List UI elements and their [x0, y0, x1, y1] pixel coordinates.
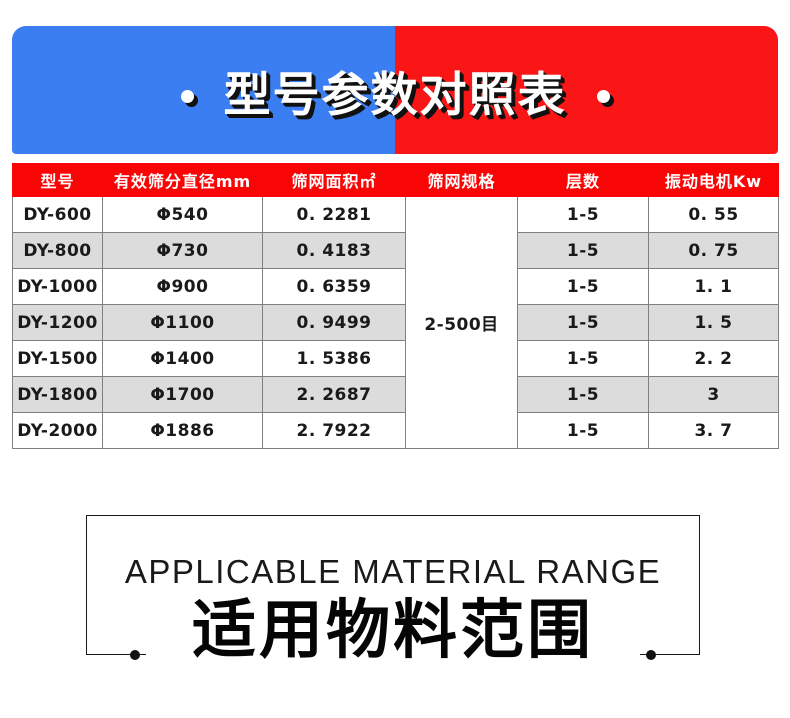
page-banner: 型号参数对照表 — [12, 26, 778, 154]
column-header-diameter: 有效筛分直径mm — [103, 164, 263, 197]
banner-dot-left-icon — [181, 90, 194, 103]
cell-area: 0. 9499 — [263, 305, 406, 341]
cell-area: 2. 7922 — [263, 413, 406, 449]
table-header-row: 型号 有效筛分直径mm 筛网面积㎡ 筛网规格 层数 振动电机Kw — [13, 164, 779, 197]
cell-motor: 1. 1 — [649, 269, 779, 305]
cell-motor: 0. 75 — [649, 233, 779, 269]
cell-diameter: Φ900 — [103, 269, 263, 305]
table-row: DY-1500 Φ1400 1. 5386 1-5 2. 2 — [13, 341, 779, 377]
banner-title: 型号参数对照表 — [224, 56, 567, 125]
banner-dot-right-icon — [597, 90, 610, 103]
cell-layers: 1-5 — [518, 233, 649, 269]
cell-layers: 1-5 — [518, 269, 649, 305]
cell-area: 0. 4183 — [263, 233, 406, 269]
cell-diameter: Φ1700 — [103, 377, 263, 413]
banner-content: 型号参数对照表 — [12, 26, 778, 154]
table-row: DY-1000 Φ900 0. 6359 1-5 1. 1 — [13, 269, 779, 305]
cell-model: DY-1000 — [13, 269, 103, 305]
cell-motor: 0. 55 — [649, 197, 779, 233]
table-header: 型号 有效筛分直径mm 筛网面积㎡ 筛网规格 层数 振动电机Kw — [13, 164, 779, 197]
cell-area: 2. 2687 — [263, 377, 406, 413]
applicable-material-range-section: APPLICABLE MATERIAL RANGE 适用物料范围 — [86, 515, 700, 655]
table-row: DY-600 Φ540 0. 2281 2-500目 1-5 0. 55 — [13, 197, 779, 233]
column-header-area: 筛网面积㎡ — [263, 164, 406, 197]
cell-model: DY-1500 — [13, 341, 103, 377]
cell-diameter: Φ1100 — [103, 305, 263, 341]
cell-model: DY-1800 — [13, 377, 103, 413]
cell-mesh-spec: 2-500目 — [406, 197, 518, 449]
column-header-mesh-spec: 筛网规格 — [406, 164, 518, 197]
section-title-chinese: 适用物料范围 — [86, 599, 700, 663]
cell-diameter: Φ540 — [103, 197, 263, 233]
table-row: DY-2000 Φ1886 2. 7922 1-5 3. 7 — [13, 413, 779, 449]
cell-motor: 2. 2 — [649, 341, 779, 377]
cell-area: 1. 5386 — [263, 341, 406, 377]
table-row: DY-1200 Φ1100 0. 9499 1-5 1. 5 — [13, 305, 779, 341]
section-title-english: APPLICABLE MATERIAL RANGE — [86, 553, 700, 591]
cell-diameter: Φ1886 — [103, 413, 263, 449]
cell-motor: 3. 7 — [649, 413, 779, 449]
cell-motor: 1. 5 — [649, 305, 779, 341]
table-row: DY-1800 Φ1700 2. 2687 1-5 3 — [13, 377, 779, 413]
cell-model: DY-1200 — [13, 305, 103, 341]
cell-diameter: Φ1400 — [103, 341, 263, 377]
cell-model: DY-800 — [13, 233, 103, 269]
table-body: DY-600 Φ540 0. 2281 2-500目 1-5 0. 55 DY-… — [13, 197, 779, 449]
column-header-motor: 振动电机Kw — [649, 164, 779, 197]
cell-layers: 1-5 — [518, 413, 649, 449]
cell-diameter: Φ730 — [103, 233, 263, 269]
cell-model: DY-600 — [13, 197, 103, 233]
cell-layers: 1-5 — [518, 197, 649, 233]
parameter-comparison-table: 型号 有效筛分直径mm 筛网面积㎡ 筛网规格 层数 振动电机Kw DY-600 … — [12, 163, 779, 449]
table-row: DY-800 Φ730 0. 4183 1-5 0. 75 — [13, 233, 779, 269]
cell-layers: 1-5 — [518, 305, 649, 341]
column-header-layers: 层数 — [518, 164, 649, 197]
cell-area: 0. 6359 — [263, 269, 406, 305]
column-header-model: 型号 — [13, 164, 103, 197]
cell-area: 0. 2281 — [263, 197, 406, 233]
cell-layers: 1-5 — [518, 377, 649, 413]
cell-motor: 3 — [649, 377, 779, 413]
cell-layers: 1-5 — [518, 341, 649, 377]
cell-model: DY-2000 — [13, 413, 103, 449]
